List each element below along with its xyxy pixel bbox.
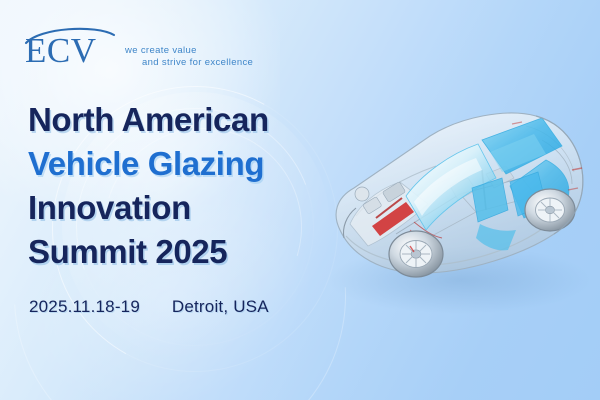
title-line-2: Vehicle Glazing [28, 142, 358, 186]
title-line-1: North American [28, 98, 358, 142]
page-title: North American Vehicle Glazing Innovatio… [28, 98, 358, 274]
logo-wordmark: ECV [25, 32, 97, 70]
vehicle-svg [310, 74, 600, 326]
cutaway-vehicle-illustration [310, 74, 600, 326]
logo-tagline-line1: we create value [125, 45, 197, 56]
logo-mark: ECV [24, 26, 116, 72]
title-line-4: Summit 2025 [28, 230, 358, 274]
ecv-logo[interactable]: ECV we create value and strive for excel… [24, 26, 253, 72]
event-banner: ECV we create value and strive for excel… [0, 0, 600, 400]
event-meta: 2025.11.18-19 Detroit, USA [29, 295, 269, 319]
event-date: 2025.11.18-19 [29, 297, 140, 316]
logo-tagline-line2: and strive for excellence [125, 57, 253, 69]
logo-tagline: we create value and strive for excellenc… [125, 45, 253, 69]
title-line-3: Innovation [28, 186, 358, 230]
event-location: Detroit, USA [172, 297, 269, 316]
